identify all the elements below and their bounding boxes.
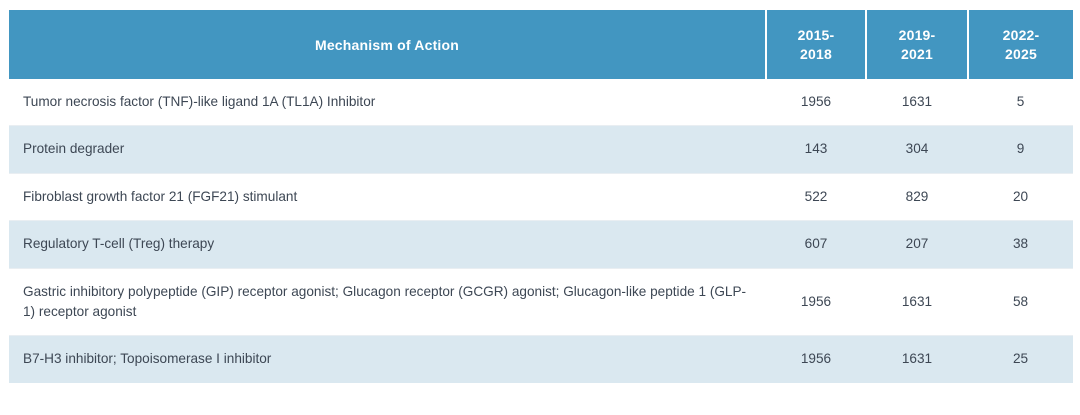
cell-2019-2021: 304 [866, 126, 968, 173]
cell-2022-2025: 20 [968, 173, 1073, 220]
cell-mechanism-of-action: Fibroblast growth factor 21 (FGF21) stim… [9, 173, 766, 220]
column-header-2019-2021-line1: 2019- [867, 26, 967, 44]
cell-2019-2021: 1631 [866, 268, 968, 336]
table-row: Gastric inhibitory polypeptide (GIP) rec… [9, 268, 1073, 336]
cell-mechanism-of-action: Protein degrader [9, 126, 766, 173]
cell-2022-2025: 9 [968, 126, 1073, 173]
cell-2022-2025: 58 [968, 268, 1073, 336]
column-header-2019-2021: 2019- 2021 [866, 10, 968, 79]
table-row: B7-H3 inhibitor; Topoisomerase I inhibit… [9, 336, 1073, 383]
table-row: Regulatory T-cell (Treg) therapy 607 207… [9, 221, 1073, 268]
header-row: Mechanism of Action 2015- 2018 2019- 202… [9, 10, 1073, 79]
table-row: Tumor necrosis factor (TNF)-like ligand … [9, 79, 1073, 126]
column-header-2019-2021-line2: 2021 [867, 45, 967, 63]
cell-2015-2018: 1956 [766, 268, 866, 336]
column-header-2015-2018: 2015- 2018 [766, 10, 866, 79]
cell-2015-2018: 1956 [766, 336, 866, 383]
column-header-2022-2025-line2: 2025 [969, 45, 1073, 63]
column-header-2022-2025: 2022- 2025 [968, 10, 1073, 79]
cell-2022-2025: 5 [968, 79, 1073, 126]
cell-2019-2021: 829 [866, 173, 968, 220]
column-header-mechanism-of-action: Mechanism of Action [9, 10, 766, 79]
table-container: Mechanism of Action 2015- 2018 2019- 202… [9, 10, 1073, 383]
cell-2015-2018: 522 [766, 173, 866, 220]
table-row: Protein degrader 143 304 9 [9, 126, 1073, 173]
cell-2015-2018: 1956 [766, 79, 866, 126]
cell-2015-2018: 607 [766, 221, 866, 268]
cell-2019-2021: 1631 [866, 336, 968, 383]
table-row: Fibroblast growth factor 21 (FGF21) stim… [9, 173, 1073, 220]
cell-mechanism-of-action: Regulatory T-cell (Treg) therapy [9, 221, 766, 268]
table-body: Tumor necrosis factor (TNF)-like ligand … [9, 79, 1073, 383]
mechanism-of-action-table: Mechanism of Action 2015- 2018 2019- 202… [9, 10, 1073, 383]
cell-2019-2021: 1631 [866, 79, 968, 126]
cell-mechanism-of-action: B7-H3 inhibitor; Topoisomerase I inhibit… [9, 336, 766, 383]
cell-2019-2021: 207 [866, 221, 968, 268]
table-header: Mechanism of Action 2015- 2018 2019- 202… [9, 10, 1073, 79]
cell-2022-2025: 25 [968, 336, 1073, 383]
column-header-2015-2018-line2: 2018 [767, 45, 865, 63]
column-header-2015-2018-line1: 2015- [767, 26, 865, 44]
cell-2015-2018: 143 [766, 126, 866, 173]
cell-mechanism-of-action: Gastric inhibitory polypeptide (GIP) rec… [9, 268, 766, 336]
column-header-2022-2025-line1: 2022- [969, 26, 1073, 44]
cell-2022-2025: 38 [968, 221, 1073, 268]
cell-mechanism-of-action: Tumor necrosis factor (TNF)-like ligand … [9, 79, 766, 126]
